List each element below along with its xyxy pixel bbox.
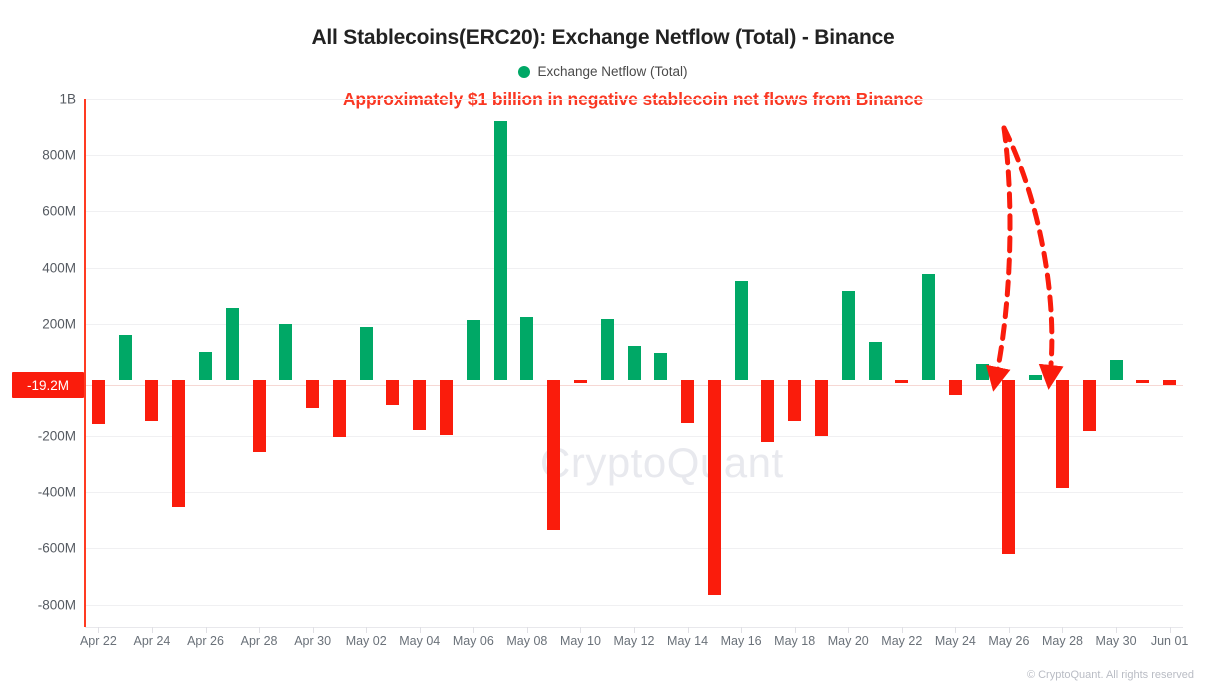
x-axis-tick-label: Apr 24 <box>134 634 171 648</box>
bar[interactable] <box>199 352 212 380</box>
bar[interactable] <box>145 380 158 422</box>
x-axis-tick-label: May 18 <box>774 634 815 648</box>
bar[interactable] <box>413 380 426 430</box>
x-axis-tick-mark <box>1116 627 1117 633</box>
bar[interactable] <box>360 327 373 380</box>
bar[interactable] <box>949 380 962 395</box>
gridline <box>85 548 1183 549</box>
bar[interactable] <box>922 274 935 380</box>
x-axis-tick-mark <box>527 627 528 633</box>
chart-container: All Stablecoins(ERC20): Exchange Netflow… <box>0 0 1206 691</box>
x-axis-tick-label: May 22 <box>881 634 922 648</box>
plot-area: CryptoQuant <box>85 99 1183 627</box>
x-axis-tick-mark <box>98 627 99 633</box>
x-axis-tick-label: May 14 <box>667 634 708 648</box>
y-axis-tick-label: -200M <box>6 429 76 444</box>
bar[interactable] <box>306 380 319 408</box>
bar[interactable] <box>601 319 614 380</box>
x-axis-tick-mark <box>420 627 421 633</box>
bar[interactable] <box>708 380 721 595</box>
bar[interactable] <box>681 380 694 423</box>
y-axis-tick-label: 800M <box>6 148 76 163</box>
x-axis-tick-label: May 26 <box>988 634 1029 648</box>
y-axis-tick-label: 600M <box>6 204 76 219</box>
bar[interactable] <box>333 380 346 438</box>
gridline <box>85 99 1183 100</box>
legend-item-label: Exchange Netflow (Total) <box>537 64 687 79</box>
x-axis-tick-mark <box>473 627 474 633</box>
x-axis-tick-mark <box>259 627 260 633</box>
bar[interactable] <box>1110 360 1123 380</box>
x-axis-tick-label: May 10 <box>560 634 601 648</box>
bar[interactable] <box>628 346 641 380</box>
bar[interactable] <box>92 380 105 424</box>
bar[interactable] <box>735 281 748 380</box>
x-axis-tick-mark <box>152 627 153 633</box>
chart-legend: Exchange Netflow (Total) <box>0 64 1206 79</box>
gridline <box>85 155 1183 156</box>
x-axis-tick-label: Jun 01 <box>1151 634 1189 648</box>
bar[interactable] <box>1002 380 1015 554</box>
x-axis-tick-mark <box>1170 627 1171 633</box>
gridline <box>85 605 1183 606</box>
bar[interactable] <box>386 380 399 405</box>
watermark: CryptoQuant <box>540 439 784 487</box>
bar[interactable] <box>440 380 453 436</box>
x-axis-tick-mark <box>848 627 849 633</box>
x-axis-tick-label: May 20 <box>828 634 869 648</box>
bar[interactable] <box>226 308 239 380</box>
x-axis-tick-label: Apr 30 <box>294 634 331 648</box>
gridline <box>85 436 1183 437</box>
gridline <box>85 268 1183 269</box>
x-axis-tick-mark <box>1009 627 1010 633</box>
bar[interactable] <box>1163 380 1176 385</box>
bar[interactable] <box>467 320 480 380</box>
x-axis-tick-label: May 28 <box>1042 634 1083 648</box>
bar[interactable] <box>761 380 774 442</box>
bar[interactable] <box>279 324 292 380</box>
y-axis-tick-label: -600M <box>6 541 76 556</box>
gridline <box>85 385 1183 386</box>
x-axis-tick-mark <box>366 627 367 633</box>
x-axis-tick-mark <box>580 627 581 633</box>
legend-marker-icon <box>518 66 530 78</box>
x-axis-tick-label: Apr 28 <box>241 634 278 648</box>
gridline <box>85 211 1183 212</box>
bar[interactable] <box>574 380 587 383</box>
x-axis-tick-mark <box>313 627 314 633</box>
bar[interactable] <box>788 380 801 422</box>
bar[interactable] <box>815 380 828 436</box>
y-axis-tick-label: -400M <box>6 485 76 500</box>
y-axis-tick-label: -800M <box>6 597 76 612</box>
bar[interactable] <box>654 353 667 380</box>
y-axis-tick-label: 200M <box>6 316 76 331</box>
chart-title: All Stablecoins(ERC20): Exchange Netflow… <box>0 26 1206 50</box>
x-axis-tick-label: Apr 26 <box>187 634 224 648</box>
x-axis-tick-label: May 02 <box>346 634 387 648</box>
x-axis-tick-label: May 06 <box>453 634 494 648</box>
x-axis-tick-label: May 12 <box>614 634 655 648</box>
x-axis-tick-mark <box>1062 627 1063 633</box>
x-axis-tick-mark <box>955 627 956 633</box>
bar[interactable] <box>119 335 132 380</box>
copyright-footer: © CryptoQuant. All rights reserved <box>1027 669 1194 681</box>
bar[interactable] <box>494 121 507 379</box>
bar[interactable] <box>547 380 560 530</box>
bar[interactable] <box>172 380 185 507</box>
x-axis-tick-mark <box>206 627 207 633</box>
x-axis-tick-label: May 08 <box>506 634 547 648</box>
y-axis-line <box>84 99 86 627</box>
x-axis-tick-mark <box>795 627 796 633</box>
bar[interactable] <box>976 364 989 380</box>
bar[interactable] <box>1029 375 1042 380</box>
bar[interactable] <box>869 342 882 380</box>
x-axis-tick-label: Apr 22 <box>80 634 117 648</box>
x-axis-tick-label: May 16 <box>721 634 762 648</box>
x-axis-tick-label: May 30 <box>1096 634 1137 648</box>
bar[interactable] <box>1136 380 1149 383</box>
x-axis-tick-mark <box>634 627 635 633</box>
x-axis-tick-mark <box>688 627 689 633</box>
bar[interactable] <box>520 317 533 380</box>
bar[interactable] <box>842 291 855 380</box>
x-axis-tick-mark <box>741 627 742 633</box>
gridline <box>85 324 1183 325</box>
bar[interactable] <box>895 380 908 383</box>
bar[interactable] <box>1056 380 1069 488</box>
bar[interactable] <box>253 380 266 452</box>
x-axis-tick-label: May 24 <box>935 634 976 648</box>
bar[interactable] <box>1083 380 1096 431</box>
x-axis-tick-label: May 04 <box>399 634 440 648</box>
x-axis-tick-mark <box>902 627 903 633</box>
gridline <box>85 492 1183 493</box>
y-axis-current-value-badge: -19.2M <box>12 372 84 398</box>
y-axis-tick-label: 400M <box>6 260 76 275</box>
